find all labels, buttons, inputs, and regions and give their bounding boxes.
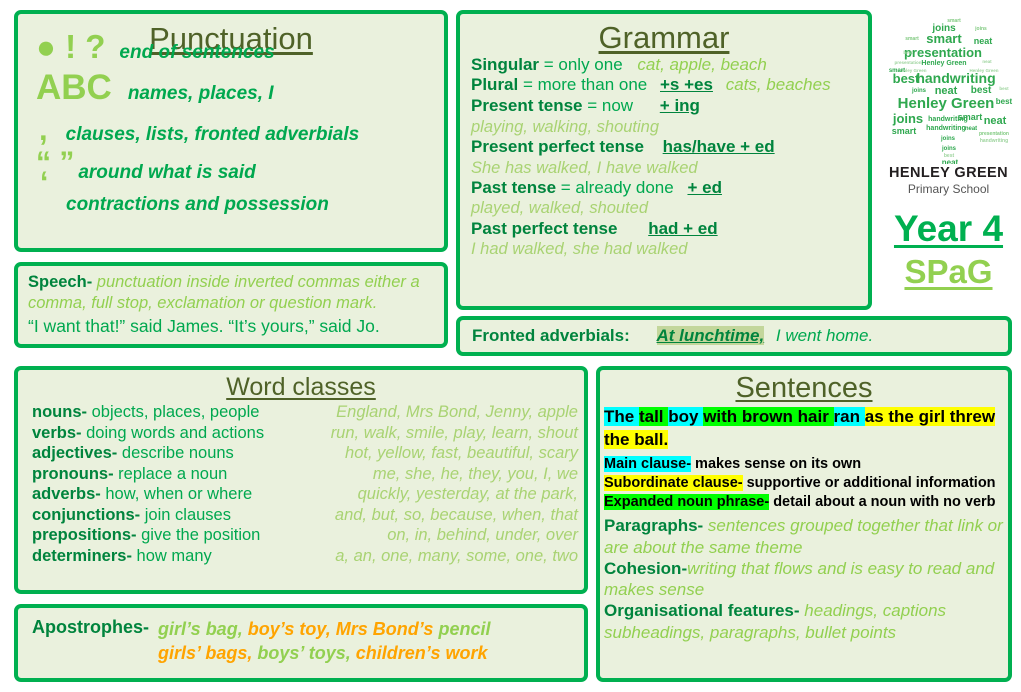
sentence-part-the: The (604, 407, 639, 426)
grammar-example-past-perfect: I had walked, she had walked (460, 239, 868, 259)
apostrophe-example: boy’s toy, (248, 619, 331, 639)
apostrophe-example: pencil (438, 619, 490, 639)
punctuation-row-desc: around what is said (78, 162, 255, 184)
fronted-adverbials-label: Fronted adverbials: (472, 326, 630, 345)
grammar-line-singular: Singular = only one cat, apple, beach (460, 55, 868, 76)
svg-text:best: best (999, 86, 1009, 91)
subject-label: SPaG (876, 255, 1021, 290)
word-class-term: adjectives- (32, 444, 117, 462)
word-class-row: pronouns- replace a noun me, she, he, th… (18, 464, 584, 485)
year-label: Year 4 (876, 210, 1021, 249)
speech-panel: Speech- punctuation inside inverted comm… (14, 262, 448, 348)
grammar-example: cat, apple, beach (637, 55, 766, 74)
grammar-eq: = (556, 178, 575, 197)
sentence-example: The tall boy with brown hair ran as the … (600, 403, 1008, 450)
definition-text: supportive or additional information (743, 475, 996, 491)
word-class-examples: quickly, yesterday, at the park, (358, 484, 584, 505)
word-classes-panel: Word classes nouns- objects, places, peo… (14, 366, 588, 594)
svg-text:presentation: presentation (903, 45, 981, 60)
svg-text:handwriting: handwriting (916, 70, 995, 86)
grammar-rule: +s +es (660, 75, 713, 94)
word-class-def: replace a noun (118, 465, 227, 483)
school-name: HENLEY GREEN (876, 165, 1021, 181)
fronted-adverbials-line: Fronted adverbials: At lunchtime, I went… (460, 320, 1008, 346)
word-class-examples: me, she, he, they, you, I, we (373, 464, 584, 485)
apostrophe-example: boys’ toys, (257, 643, 350, 663)
grammar-rule: has/have + ed (663, 137, 775, 156)
sentence-part-tall: tall (639, 407, 668, 426)
word-class-def: describe nouns (122, 444, 234, 462)
svg-text:neat: neat (964, 126, 976, 132)
sentence-definition-main-clause: Main clause- makes sense on its own (600, 451, 1008, 474)
fronted-adverbial-rest: I went home. (776, 326, 873, 345)
svg-text:joins: joins (939, 136, 955, 142)
svg-text:smart: smart (888, 68, 904, 74)
svg-text:neat: neat (983, 115, 1006, 127)
svg-text:handwriting: handwriting (979, 138, 1007, 144)
definition-text: detail about a noun with no verb (769, 494, 995, 510)
grammar-heading: Grammar (460, 22, 868, 55)
punctuation-row: contractions and possession (18, 194, 444, 216)
definition-term: Expanded noun phrase- (604, 494, 769, 510)
svg-text:joins: joins (910, 88, 926, 94)
word-class-row: verbs- doing words and actions run, walk… (18, 423, 584, 444)
word-class-term: prepositions- (32, 526, 137, 544)
svg-text:best: best (903, 50, 913, 55)
word-class-def: give the position (141, 526, 260, 544)
sentences-panel: Sentences The tall boy with brown hair r… (596, 366, 1012, 682)
grammar-rule: + ing (660, 96, 700, 115)
apostrophe-example: girls’ bags, (158, 643, 252, 663)
svg-text:smart: smart (891, 126, 916, 136)
svg-text:neat: neat (941, 158, 958, 164)
word-class-row: conjunctions- join clauses and, but, so,… (18, 505, 584, 526)
svg-text:presentation: presentation (978, 131, 1008, 137)
grammar-example-present: playing, walking, shouting (460, 117, 868, 137)
grammar-example: cats, beaches (726, 75, 831, 94)
word-class-examples: a, an, one, many, some, one, two (335, 546, 584, 567)
punctuation-row-desc: names, places, I (128, 83, 274, 105)
word-class-term: adverbs- (32, 485, 101, 503)
grammar-def: only one (558, 55, 622, 74)
grammar-term: Singular (471, 55, 539, 74)
grammar-eq: = (539, 55, 558, 74)
sentence-part-with-brown-hair: with brown hair (703, 407, 833, 426)
svg-text:joins: joins (940, 146, 956, 152)
definition-term: Main clause- (604, 456, 691, 472)
school-subtitle: Primary School (876, 182, 1021, 196)
word-class-row: nouns- objects, places, people England, … (18, 402, 584, 423)
word-class-def: join clauses (145, 506, 231, 524)
word-class-def: doing words and actions (86, 424, 264, 442)
grammar-rule: had + ed (648, 219, 717, 238)
grammar-example-present-perfect: She has walked, I have walked (460, 158, 868, 178)
grammar-panel: Grammar Singular = only one cat, apple, … (456, 10, 872, 310)
apostrophe-symbol: ‘ (40, 166, 48, 200)
paragraph-term: Paragraphs- (604, 516, 703, 535)
word-class-examples: England, Mrs Bond, Jenny, apple (336, 402, 584, 423)
speech-label: Speech- (28, 273, 92, 291)
word-class-def: how, when or where (105, 485, 252, 503)
sentence-organisational-features-line: Organisational features- headings, capti… (600, 600, 1008, 643)
sentence-definition-subordinate-clause: Subordinate clause- supportive or additi… (600, 474, 1008, 493)
svg-text:joins: joins (974, 26, 987, 32)
word-cloud-tree-logo: smart joins joins smart smart neat prese… (884, 4, 1014, 164)
school-branding-block: smart joins joins smart smart neat prese… (876, 4, 1021, 304)
grammar-term: Present perfect tense (471, 137, 644, 156)
grammar-term: Present tense (471, 96, 583, 115)
organisational-term: Organisational features- (604, 601, 800, 620)
apostrophes-label: Apostrophes- (32, 617, 149, 666)
word-class-term: determiners- (32, 547, 132, 565)
definition-text: makes sense on its own (691, 456, 861, 472)
sentence-part-ran: ran (834, 407, 865, 426)
word-class-examples: run, walk, smile, play, learn, shout (331, 423, 584, 444)
punctuation-panel: Punctuation ● ! ? end of sentences ABC n… (14, 10, 448, 252)
grammar-line-present-tense: Present tense = now + ing (460, 96, 868, 117)
apostrophe-example: Mrs Bond’s (336, 619, 434, 639)
punctuation-row-desc: end of sentences (119, 42, 274, 64)
svg-text:smart: smart (957, 112, 982, 122)
sentences-heading: Sentences (600, 373, 1008, 403)
apostrophe-example: girl’s bag, (158, 619, 243, 639)
grammar-eq: = (583, 96, 602, 115)
fronted-adverbials-panel: Fronted adverbials: At lunchtime, I went… (456, 316, 1012, 356)
end-of-sentence-symbols: ● ! ? (36, 28, 105, 66)
capital-letters-symbol: ABC (36, 68, 112, 108)
word-class-examples: hot, yellow, fast, beautiful, scary (345, 443, 584, 464)
grammar-line-present-perfect: Present perfect tense has/have + ed (460, 137, 868, 158)
grammar-example-past: played, walked, shouted (460, 198, 868, 218)
grammar-term: Past perfect tense (471, 219, 617, 238)
definition-term: Subordinate clause- (604, 475, 743, 491)
apostrophes-panel: Apostrophes- girl’s bag, boy’s toy, Mrs … (14, 604, 588, 682)
punctuation-row-desc: contractions and possession (66, 194, 329, 216)
grammar-def: more than one (538, 75, 648, 94)
sentence-definition-expanded-noun-phrase: Expanded noun phrase- detail about a nou… (600, 493, 1008, 512)
sentence-part-boy: boy (668, 407, 703, 426)
grammar-line-past-tense: Past tense = already done + ed (460, 178, 868, 199)
punctuation-row: ABC names, places, I (18, 68, 444, 108)
fronted-adverbial-highlighted: At lunchtime, (657, 326, 765, 345)
grammar-line-past-perfect: Past perfect tense had + ed (460, 219, 868, 240)
word-class-term: nouns- (32, 403, 87, 421)
svg-text:handwriting: handwriting (926, 125, 966, 132)
word-class-def: objects, places, people (92, 403, 260, 421)
svg-text:best: best (995, 97, 1012, 106)
word-class-term: verbs- (32, 424, 82, 442)
grammar-term: Past tense (471, 178, 556, 197)
svg-text:presentation: presentation (894, 60, 921, 65)
word-class-row: adverbs- how, when or where quickly, yes… (18, 484, 584, 505)
word-class-term: conjunctions- (32, 506, 140, 524)
word-class-examples: on, in, behind, under, over (387, 525, 584, 546)
word-class-def: how many (137, 547, 212, 565)
word-class-row: determiners- how many a, an, one, many, … (18, 546, 584, 567)
sentence-cohesion-line: Cohesion-writing that flows and is easy … (600, 558, 1008, 601)
cohesion-term: Cohesion- (604, 559, 687, 578)
word-class-term: pronouns- (32, 465, 114, 483)
svg-text:neat: neat (982, 59, 992, 64)
grammar-def: now (602, 96, 633, 115)
word-class-row: prepositions- give the position on, in, … (18, 525, 584, 546)
sentence-paragraphs-line: Paragraphs- sentences grouped together t… (600, 512, 1008, 558)
svg-text:smart: smart (905, 36, 919, 42)
svg-text:smart: smart (926, 31, 962, 46)
word-class-row: adjectives- describe nouns hot, yellow, … (18, 443, 584, 464)
grammar-term: Plural (471, 75, 518, 94)
speech-definition-line: Speech- punctuation inside inverted comm… (18, 266, 444, 314)
svg-text:Henley Green: Henley Green (897, 95, 994, 112)
comma-symbol: , (39, 112, 48, 148)
speech-example: “I want that!” said James. “It’s yours,”… (18, 314, 444, 337)
grammar-def: already done (575, 178, 673, 197)
punctuation-row: , clauses, lists, fronted adverbials (18, 112, 444, 148)
svg-text:joins: joins (891, 111, 922, 126)
grammar-eq: = (518, 75, 537, 94)
svg-text:Henley Green: Henley Green (921, 60, 966, 67)
grammar-line-plural: Plural = more than one +s +es cats, beac… (460, 75, 868, 96)
apostrophe-example: children’s work (356, 643, 488, 663)
word-class-examples: and, but, so, because, when, that (335, 505, 584, 526)
word-classes-heading: Word classes (18, 374, 584, 400)
punctuation-row-desc: clauses, lists, fronted adverbials (66, 124, 360, 146)
grammar-rule: + ed (687, 178, 722, 197)
